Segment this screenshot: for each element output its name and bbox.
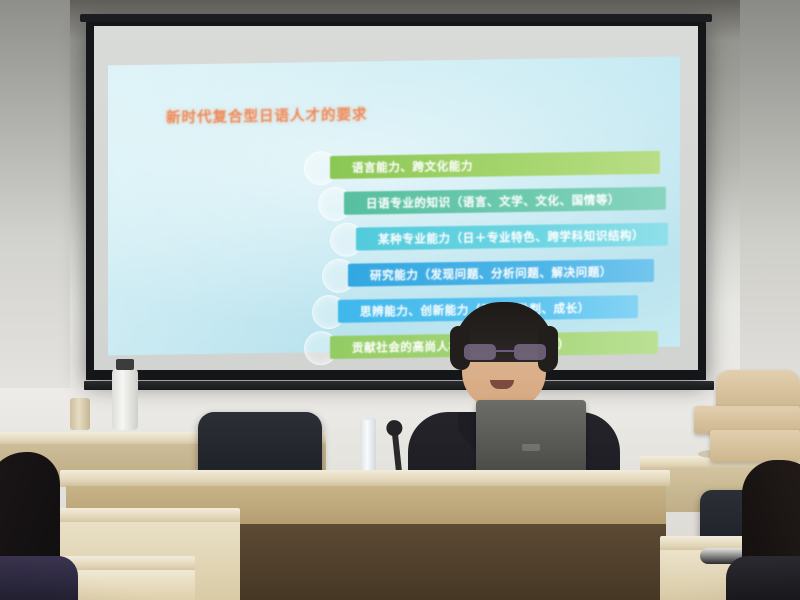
eyeglass-lens-left <box>464 344 496 360</box>
laptop[interactable] <box>476 400 586 474</box>
slide-row-bar: 某种专业能力（日＋专业特色、跨学科知识结构） <box>356 223 668 251</box>
eyeglasses-icon <box>462 344 548 360</box>
water-bottle <box>360 418 376 474</box>
right-wall-column <box>740 0 800 400</box>
left-wall-column <box>0 0 70 400</box>
eyeglass-lens-right <box>514 344 546 360</box>
slide-row-bar: 语言能力、跨文化能力 <box>330 151 660 179</box>
paper-cup <box>70 398 90 430</box>
thermos-flask <box>112 368 138 430</box>
eyeglass-bridge <box>496 350 514 352</box>
slide-row-bar: 研究能力（发现问题、分析问题、解决问题） <box>348 259 654 287</box>
slide-row-bar: 日语专业的知识（语言、文学、文化、国情等） <box>344 187 666 215</box>
stacked-wood-panel <box>710 430 800 462</box>
audience-left-shoulder <box>0 556 78 600</box>
presenter-desk-surface <box>60 470 670 487</box>
classroom-scene: 新时代复合型日语人才的要求 语言能力、跨文化能力 日语专业的知识（语言、文学、文… <box>0 0 800 600</box>
slide-title: 新时代复合型日语人才的要求 <box>166 103 368 127</box>
audience-right-shoulder <box>726 556 800 600</box>
